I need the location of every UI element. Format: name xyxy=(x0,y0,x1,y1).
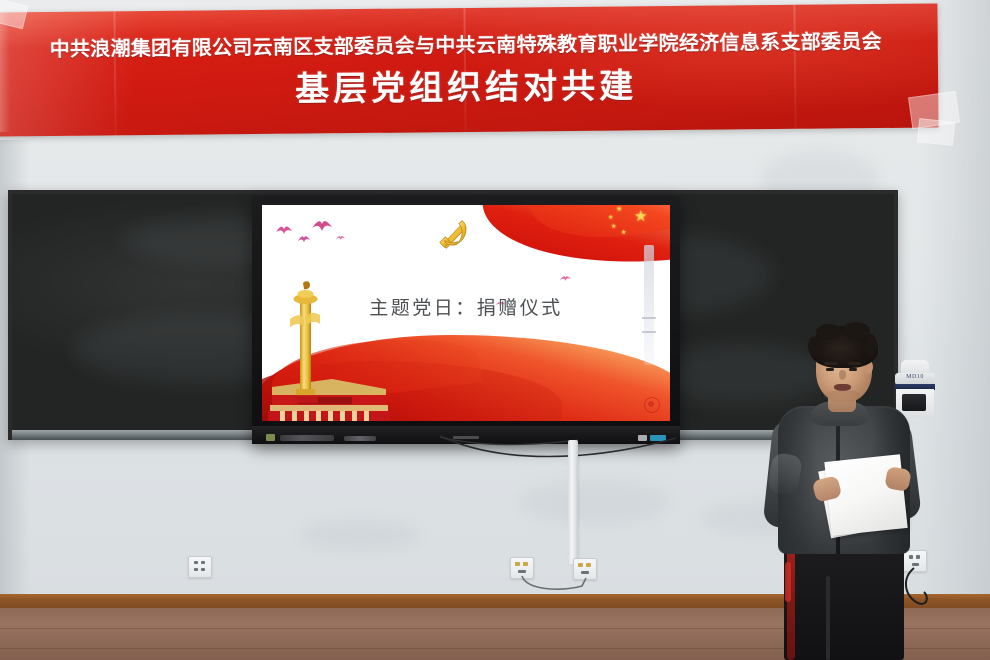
party-emblem-icon xyxy=(434,215,472,253)
wall-smudge xyxy=(520,480,670,524)
tv-ir-receiver xyxy=(266,434,275,441)
classroom-photo: 中共浪潮集团有限公司云南区支部委员会与中共云南特殊教育职业学院经济信息系支部委员… xyxy=(0,0,990,660)
event-banner: 中共浪潮集团有限公司云南区支部委员会与中共云南特殊教育职业学院经济信息系支部委员… xyxy=(0,3,939,136)
person-eye-left xyxy=(826,368,834,371)
wall-outlet-left[interactable] xyxy=(188,556,212,578)
hanging-cable-2 xyxy=(440,437,580,447)
tv-screen[interactable]: ★ ★ ★ ★ ★ xyxy=(262,205,670,421)
banner-line-2: 基层党组织结对共建 xyxy=(0,55,938,113)
bird-icon xyxy=(276,225,292,235)
pants-center-seam xyxy=(826,576,830,660)
person-brow-left xyxy=(824,362,838,365)
wall-smudge xyxy=(300,520,420,550)
banner-tape-right-2 xyxy=(917,118,955,146)
hair-tuft xyxy=(816,324,842,340)
bird-icon xyxy=(560,275,571,282)
slide-watermark xyxy=(644,397,660,413)
bird-icon xyxy=(312,219,332,232)
person-nose xyxy=(839,370,846,380)
person-brow-right xyxy=(848,362,861,365)
hair-sideburn xyxy=(808,336,822,356)
tv-control-panel[interactable] xyxy=(280,435,334,441)
flag-star-small: ★ xyxy=(616,206,622,213)
bird-icon xyxy=(298,235,310,243)
presentation-slide: ★ ★ ★ ★ ★ xyxy=(262,205,670,421)
tv-control-buttons[interactable] xyxy=(344,436,376,441)
tiananmen-gate-icon xyxy=(264,365,394,421)
bird-icon xyxy=(336,235,345,241)
person-eye-right xyxy=(849,368,857,371)
person-legs xyxy=(784,536,904,660)
flag-star-large: ★ xyxy=(634,209,647,224)
flag-star-small: ★ xyxy=(621,230,626,236)
cable-conduit xyxy=(568,440,578,564)
pants-side-stripe-accent xyxy=(785,562,791,602)
flag-star-small: ★ xyxy=(611,224,616,230)
outlet-cable xyxy=(520,576,590,594)
slide-sidebar-tick xyxy=(642,331,656,333)
banner-left-fold xyxy=(0,8,11,132)
slide-title: 主题党日：捐赠仪式 xyxy=(262,293,670,320)
smart-tv[interactable]: ★ ★ ★ ★ ★ xyxy=(252,196,680,444)
hair-sideburn xyxy=(864,334,877,356)
speaker-reading xyxy=(760,322,940,660)
flag-star-small: ★ xyxy=(608,215,613,221)
person-chin-shadow xyxy=(824,390,862,402)
